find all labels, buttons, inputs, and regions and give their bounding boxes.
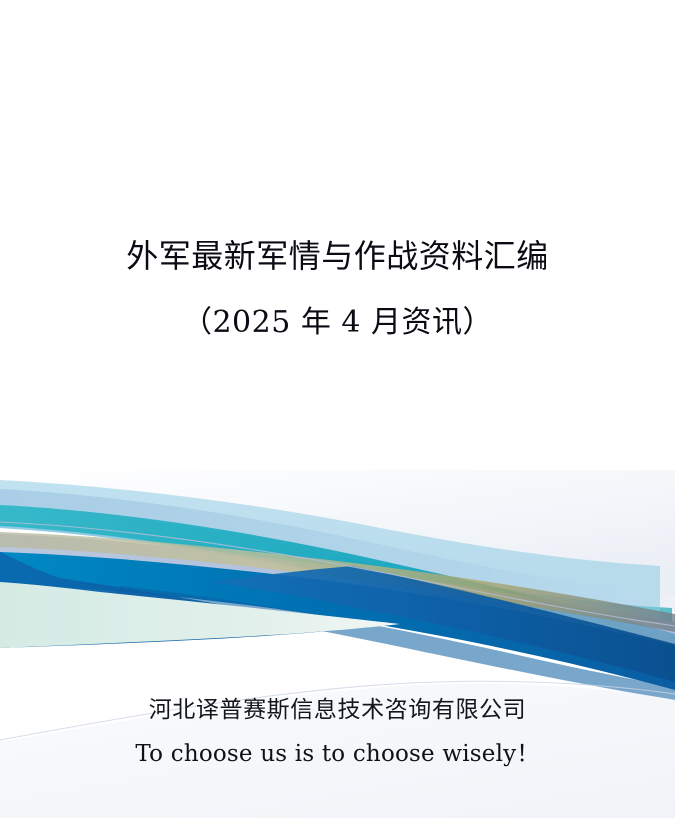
band-mid-blue bbox=[110, 586, 675, 700]
band-sky-blue bbox=[0, 506, 672, 622]
wash-upper-right bbox=[0, 470, 675, 598]
hairline-curve-upper bbox=[0, 522, 675, 626]
band-teal bbox=[0, 505, 675, 660]
footer-block: 河北译普赛斯信息技术咨询有限公司 To choose us is to choo… bbox=[0, 694, 675, 770]
band-steel-blue bbox=[0, 534, 675, 648]
band-navy-blue bbox=[210, 566, 675, 682]
page-subtitle: （2025 年 4 月资讯） bbox=[0, 300, 675, 346]
band-lavender bbox=[0, 489, 675, 612]
band-deep-blue bbox=[0, 552, 340, 648]
company-name: 河北译普赛斯信息技术咨询有限公司 bbox=[0, 694, 675, 726]
company-tagline: To choose us is to choose wisely！ bbox=[0, 738, 675, 770]
band-mint bbox=[0, 582, 400, 648]
band-khaki bbox=[0, 532, 675, 632]
page-title: 外军最新军情与作战资料汇编 bbox=[0, 232, 675, 280]
band-ocean-blue bbox=[0, 552, 675, 690]
band-sky-blue-lower bbox=[0, 480, 660, 620]
cover-page: 外军最新军情与作战资料汇编 （2025 年 4 月资讯） 河北译普赛斯信息技术咨… bbox=[0, 0, 675, 818]
title-block: 外军最新军情与作战资料汇编 （2025 年 4 月资讯） bbox=[0, 232, 675, 346]
